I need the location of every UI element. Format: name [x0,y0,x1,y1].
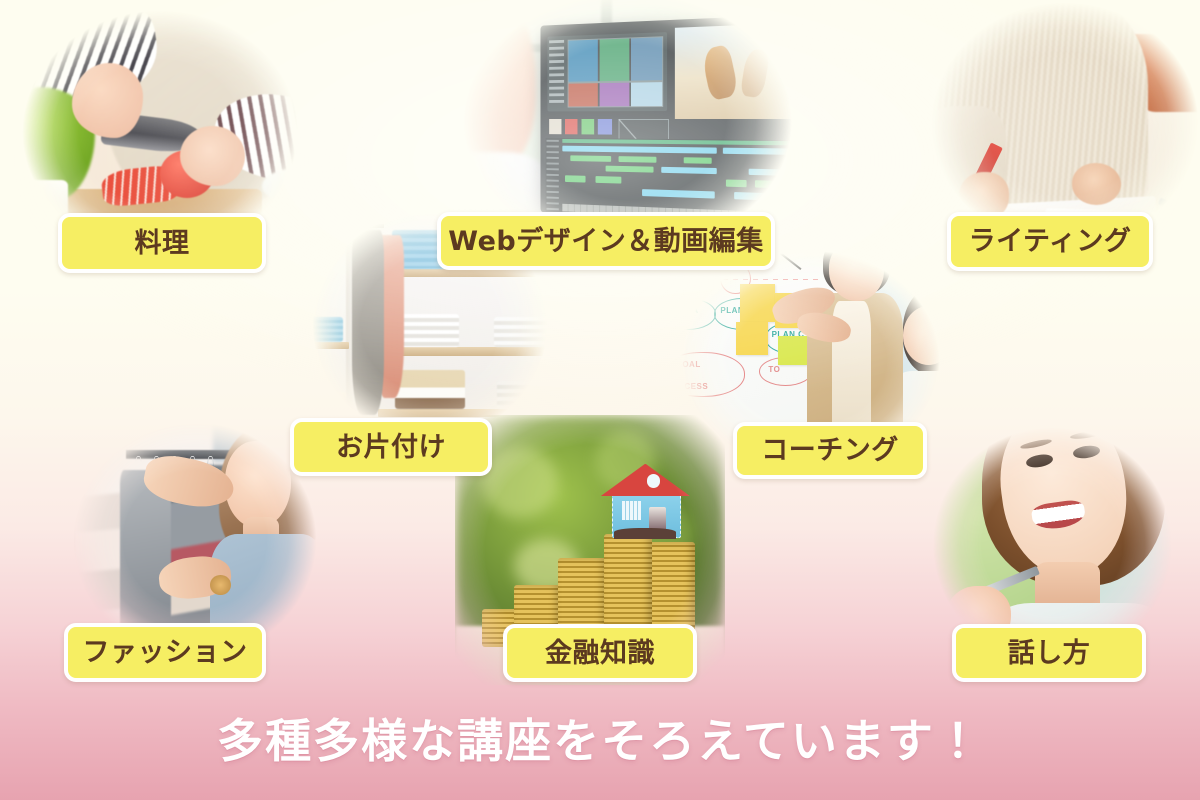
sticky-note [778,336,807,366]
sticky-note [736,322,768,354]
category-label-writing[interactable]: ライティング [947,212,1153,271]
headline-text: 多種多様な講座をそろえています！ [0,705,1200,771]
category-label-fashion[interactable]: ファッション [64,623,266,682]
promo-banner: STRATEGY PLAN A PLAN B PLAN C GOAL SUCCE… [0,0,1200,800]
sticky-note [740,284,775,322]
whiteboard-text-goal: GOAL [676,360,701,369]
category-label-tidying[interactable]: お片付け [290,418,492,476]
category-label-cooking[interactable]: 料理 [58,213,266,273]
whiteboard-text-success: SUCCESS [666,382,708,391]
whiteboard-text-to: TO [768,365,780,374]
category-label-web-design[interactable]: Webデザイン＆動画編集 [437,212,775,270]
category-label-speaking[interactable]: 話し方 [952,624,1146,682]
monitor-screen [540,14,810,225]
category-label-coaching[interactable]: コーチング [733,422,927,479]
category-label-finance[interactable]: 金融知識 [503,624,697,682]
whiteboard-text-plan-a: PLAN A [666,306,698,315]
